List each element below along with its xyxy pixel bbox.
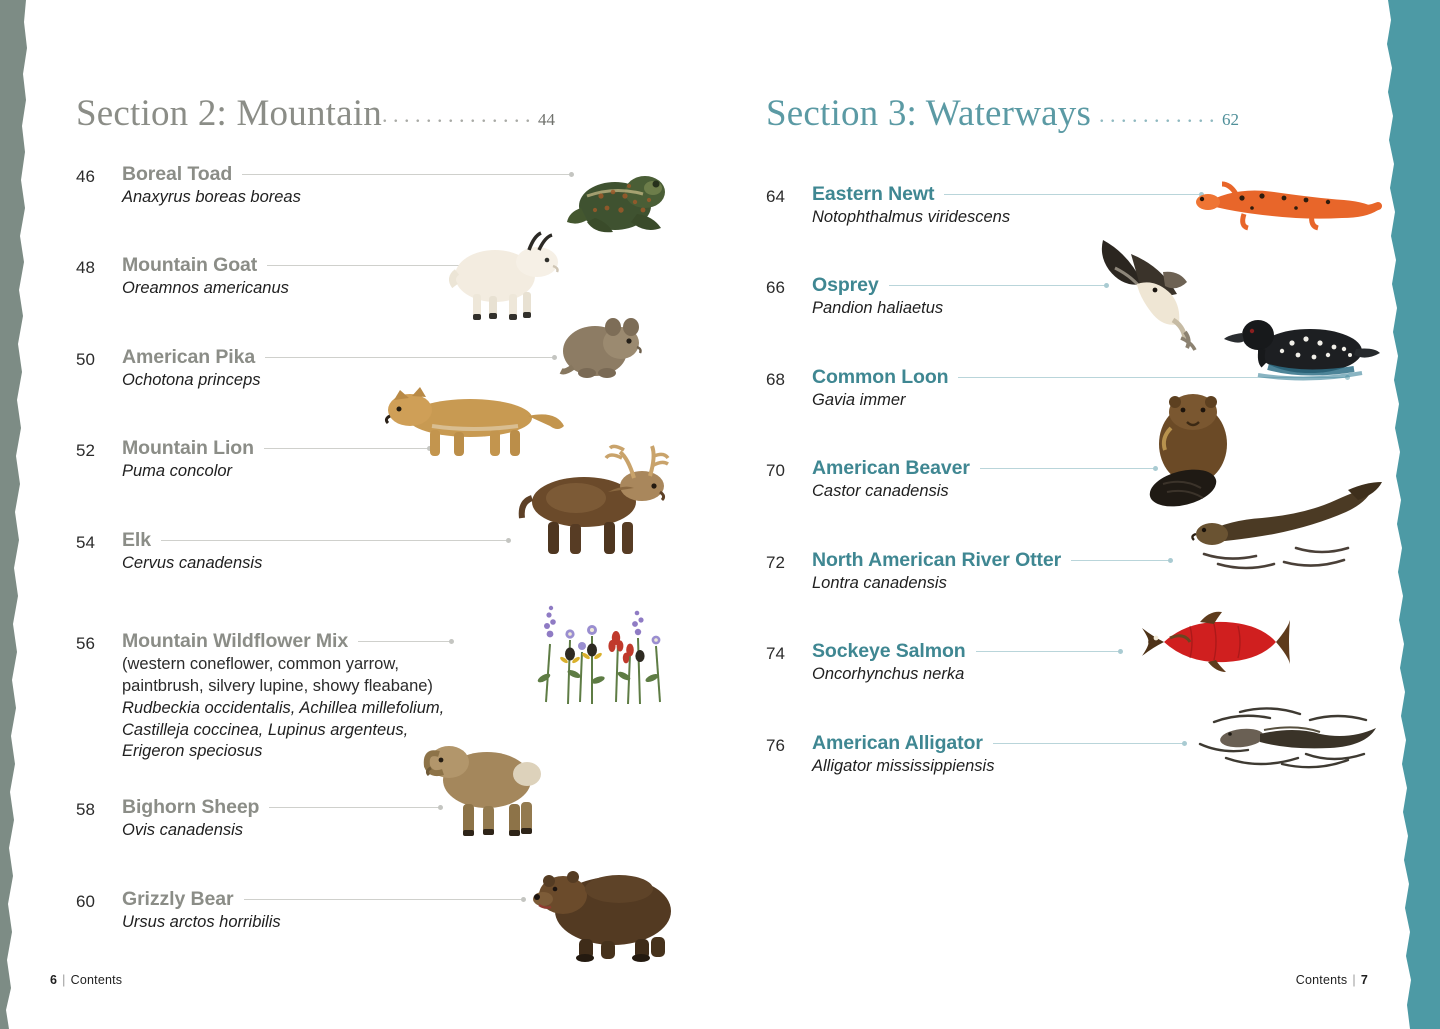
entry-page-number: 68 <box>766 366 812 390</box>
toc-entry[interactable]: 74 Sockeye Salmon Oncorhynchus nerka <box>766 640 1386 685</box>
entry-name[interactable]: Mountain Goat <box>122 254 257 277</box>
entry-page-number: 74 <box>766 640 812 664</box>
section-leader-dots: ........... <box>1099 104 1220 126</box>
section-title: Section 3: Waterways <box>766 92 1091 135</box>
entry-scientific-name: Oncorhynchus nerka <box>812 664 1386 685</box>
entry-page-number: 64 <box>766 183 812 207</box>
entry-scientific-name: Alligator mississippiensis <box>812 756 1386 777</box>
leader-line <box>267 265 482 266</box>
section-heading-waterways: Section 3: Waterways ........... 62 <box>766 92 1386 135</box>
section-page-number: 62 <box>1222 110 1239 130</box>
leader-line <box>993 743 1185 744</box>
toc-entry[interactable]: 50 American Pika Ochotona princeps <box>76 346 696 391</box>
entry-page-number: 54 <box>76 529 122 553</box>
entry-page-number: 60 <box>76 888 122 912</box>
entry-page-number: 50 <box>76 346 122 370</box>
entry-name[interactable]: American Beaver <box>812 457 970 480</box>
entry-name[interactable]: Boreal Toad <box>122 163 232 186</box>
toc-entry[interactable]: 54 Elk Cervus canadensis <box>76 529 696 574</box>
entry-scientific-name: Castor canadensis <box>812 481 1386 502</box>
entry-name[interactable]: Osprey <box>812 274 879 297</box>
entry-name[interactable]: Elk <box>122 529 151 552</box>
leader-line <box>889 285 1107 286</box>
entry-name[interactable]: Bighorn Sheep <box>122 796 259 819</box>
footer-label: Contents <box>71 973 123 987</box>
entry-name[interactable]: American Pika <box>122 346 255 369</box>
left-page-column: Section 2: Mountain .............. 44 46… <box>76 92 696 933</box>
toc-entry[interactable]: 52 Mountain Lion Puma concolor <box>76 437 696 482</box>
entry-page-number: 66 <box>766 274 812 298</box>
leader-line <box>944 194 1202 195</box>
entry-scientific-name: Oreamnos americanus <box>122 278 696 299</box>
footer-page-number: 6 <box>50 973 57 987</box>
entry-scientific-name: Pandion haliaetus <box>812 298 1386 319</box>
entry-page-number: 48 <box>76 254 122 278</box>
entry-scientific-name: Rudbeckia occidentalis, Achillea millefo… <box>122 698 452 762</box>
leader-line <box>976 651 1121 652</box>
leader-line <box>958 377 1348 378</box>
entry-page-number: 52 <box>76 437 122 461</box>
footer-label: Contents <box>1296 973 1348 987</box>
right-page-column: Section 3: Waterways ........... 62 64 E… <box>766 92 1386 777</box>
entry-name[interactable]: Eastern Newt <box>812 183 934 206</box>
toc-entry[interactable]: 58 Bighorn Sheep Ovis canadensis <box>76 796 696 841</box>
leader-line <box>242 174 572 175</box>
toc-entry[interactable]: 76 American Alligator Alligator mississi… <box>766 732 1386 777</box>
entry-scientific-name: Anaxyrus boreas boreas <box>122 187 696 208</box>
section-page-number: 44 <box>538 110 555 130</box>
footer-page-number: 7 <box>1361 973 1368 987</box>
footer-separator: | <box>1352 973 1355 987</box>
leader-line <box>269 807 441 808</box>
entry-name[interactable]: Grizzly Bear <box>122 888 234 911</box>
toc-entry[interactable]: 56 Mountain Wildflower Mix (western cone… <box>76 630 696 762</box>
leader-line <box>980 468 1156 469</box>
entry-scientific-name: Gavia immer <box>812 390 1386 411</box>
leader-line <box>358 641 452 642</box>
entry-page-number: 72 <box>766 549 812 573</box>
toc-entry[interactable]: 60 Grizzly Bear Ursus arctos horribilis <box>76 888 696 933</box>
entry-name[interactable]: American Alligator <box>812 732 983 755</box>
section-leader-dots: .............. <box>382 104 536 126</box>
footer-separator: | <box>62 973 65 987</box>
toc-entry[interactable]: 64 Eastern Newt Notophthalmus viridescen… <box>766 183 1386 228</box>
toc-entry[interactable]: 70 American Beaver Castor canadensis <box>766 457 1386 502</box>
entry-scientific-name: Ochotona princeps <box>122 370 696 391</box>
entry-scientific-name: Notophthalmus viridescens <box>812 207 1386 228</box>
leader-line <box>264 448 430 449</box>
toc-entry[interactable]: 72 North American River Otter Lontra can… <box>766 549 1386 594</box>
entry-scientific-name: Lontra canadensis <box>812 573 1386 594</box>
entry-page-number: 58 <box>76 796 122 820</box>
leader-line <box>244 899 524 900</box>
section-heading-mountain: Section 2: Mountain .............. 44 <box>76 92 696 135</box>
leader-line <box>265 357 555 358</box>
footer-right: Contents|7 <box>1296 973 1368 987</box>
entry-scientific-name: Ovis canadensis <box>122 820 696 841</box>
entry-common-names: (western coneflower, common yarrow, pain… <box>122 654 452 697</box>
leader-line <box>1071 560 1171 561</box>
entry-name[interactable]: Sockeye Salmon <box>812 640 966 663</box>
toc-entry[interactable]: 68 Common Loon Gavia immer <box>766 366 1386 411</box>
entry-page-number: 56 <box>76 630 122 654</box>
entry-page-number: 76 <box>766 732 812 756</box>
toc-entry[interactable]: 48 Mountain Goat Oreamnos americanus <box>76 254 696 299</box>
entry-scientific-name: Ursus arctos horribilis <box>122 912 696 933</box>
footer-left: 6|Contents <box>50 973 122 987</box>
entry-scientific-name: Cervus canadensis <box>122 553 696 574</box>
toc-entry[interactable]: 66 Osprey Pandion haliaetus <box>766 274 1386 319</box>
toc-entry[interactable]: 46 Boreal Toad Anaxyrus boreas boreas <box>76 163 696 208</box>
entry-name[interactable]: Common Loon <box>812 366 948 389</box>
leader-line <box>161 540 509 541</box>
entry-page-number: 70 <box>766 457 812 481</box>
entry-page-number: 46 <box>76 163 122 187</box>
entry-name[interactable]: Mountain Wildflower Mix <box>122 630 348 653</box>
section-title: Section 2: Mountain <box>76 92 382 135</box>
entry-scientific-name: Puma concolor <box>122 461 696 482</box>
entry-name[interactable]: North American River Otter <box>812 549 1061 572</box>
book-spread-page: Section 2: Mountain .............. 44 46… <box>0 0 1440 1029</box>
entry-name[interactable]: Mountain Lion <box>122 437 254 460</box>
